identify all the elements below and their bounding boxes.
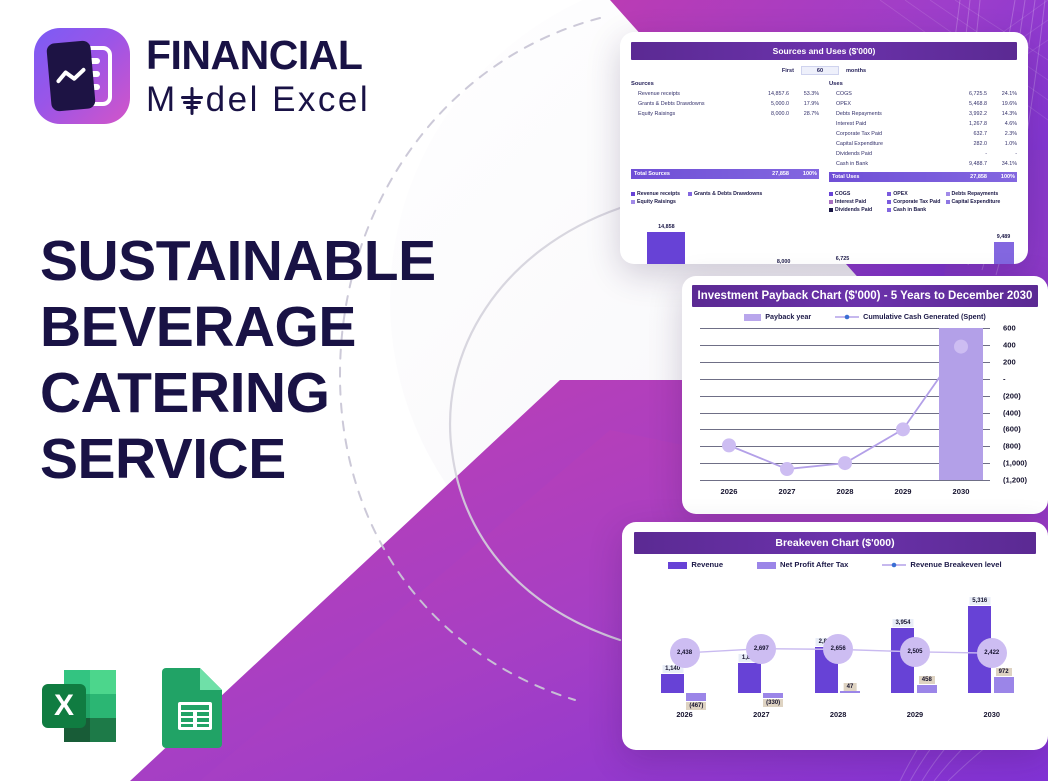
total-pct: 100% xyxy=(789,171,819,177)
table-row: Dividends Paid - - xyxy=(829,149,1017,159)
row-pct: - xyxy=(987,149,1017,159)
npat-bar xyxy=(994,677,1014,693)
total-pct: 100% xyxy=(987,174,1017,180)
legend-label: Interest Paid xyxy=(835,199,866,205)
legend-label: Cash in Bank xyxy=(893,207,926,213)
row-pct: 17.9% xyxy=(789,99,819,109)
legend-label: Grants & Debts Drawdowns xyxy=(694,191,762,197)
row-pct: 19.6% xyxy=(987,99,1017,109)
x-axis-tick-label: 2028 xyxy=(837,487,854,496)
legend-label: Dividends Paid xyxy=(835,207,872,213)
x-axis-tick-label: 2030 xyxy=(984,710,1000,719)
legend-label: COGS xyxy=(835,191,850,197)
row-value: 3,992.2 xyxy=(945,109,987,119)
bar-value-label: 8,000 xyxy=(759,259,809,264)
payback-legend: Payback year Cumulative Cash Generated (… xyxy=(692,312,1038,321)
revenue-value-label: 3,954 xyxy=(892,619,913,627)
legend-label: Corporate Tax Paid xyxy=(893,199,940,205)
legend-cumulative-cash: Cumulative Cash Generated (Spent) xyxy=(835,312,986,321)
legend-swatch xyxy=(887,208,891,212)
table-row: Capital Expenditure 282.0 1.0% xyxy=(829,139,1017,149)
row-label: COGS xyxy=(829,89,945,99)
google-sheets-icon xyxy=(154,662,234,750)
table-row: OPEX 5,468.8 19.6% xyxy=(829,99,1017,109)
row-value: 1,267.8 xyxy=(945,119,987,129)
legend-npat: Net Profit After Tax xyxy=(757,560,848,569)
row-label: Interest Paid xyxy=(829,119,945,129)
uses-header: Uses xyxy=(829,81,1017,87)
doc-front-shape xyxy=(46,40,96,112)
left-content-panel: FINANCIAL M del Excel SUSTAINABLE BEVERA… xyxy=(0,0,520,781)
revenue-bar xyxy=(661,674,684,693)
table-row: Equity Raisings 8,000.0 28.7% xyxy=(631,109,819,119)
npat-value-label: 972 xyxy=(996,668,1012,676)
headline-line-3: CATERING xyxy=(40,360,500,426)
uses-bar-chart: 6,7255,4693,9921,26863328209,489 xyxy=(829,219,1017,264)
legend-item: Grants & Debts Drawdowns xyxy=(688,191,762,197)
breakeven-value-bubble: 2,656 xyxy=(823,634,853,664)
legend-band-swatch xyxy=(744,314,761,321)
npat-value-label: 47 xyxy=(844,683,857,691)
npat-value-label: (467) xyxy=(686,702,706,710)
row-label: Revenue receipts xyxy=(631,89,747,99)
legend-swatch xyxy=(631,200,635,204)
headline-line-2: BEVERAGE xyxy=(40,294,500,360)
legend-swatch xyxy=(887,192,891,196)
legend-breakeven-level: Revenue Breakeven level xyxy=(882,560,1001,569)
legend-revenue: Revenue xyxy=(668,560,723,569)
legend-swatch xyxy=(688,192,692,196)
legend-item: Equity Raisings xyxy=(631,199,676,205)
breakeven-value-bubble: 2,438 xyxy=(670,638,700,668)
table-row: Interest Paid 1,267.8 4.6% xyxy=(829,119,1017,129)
legend-swatch xyxy=(829,200,833,204)
sources-column: Sources Revenue receipts 14,857.6 53.3% … xyxy=(631,81,819,182)
legend-label: Equity Raisings xyxy=(637,199,676,205)
legend-label: Revenue receipts xyxy=(637,191,680,197)
gridline xyxy=(700,480,990,481)
payback-plot-area: 600400200-(200)(400)(600)(800)(1,000)(1,… xyxy=(692,328,1038,480)
cumulative-cash-line xyxy=(692,328,1038,480)
x-axis-tick-label: 2027 xyxy=(753,710,769,719)
total-value: 27,858 xyxy=(945,174,987,180)
row-pct: 24.1% xyxy=(987,89,1017,99)
legend-swatch xyxy=(887,200,891,204)
npat-bar xyxy=(686,693,706,701)
x-axis-tick-label: 2030 xyxy=(953,487,970,496)
row-label: Equity Raisings xyxy=(631,109,747,119)
stacked-bars-glyph-icon xyxy=(179,88,205,114)
legend-npat-swatch xyxy=(757,562,776,569)
breakeven-value-bubble: 2,505 xyxy=(900,637,930,667)
row-pct: 1.0% xyxy=(987,139,1017,149)
legend-item: Corporate Tax Paid xyxy=(887,199,945,205)
headline-line-4: SERVICE xyxy=(40,426,500,492)
months-control-row: First 60 months xyxy=(631,66,1017,75)
npat-value-label: 458 xyxy=(919,676,935,684)
row-value: 632.7 xyxy=(945,129,987,139)
brand-logo: FINANCIAL M del Excel xyxy=(34,28,370,124)
npat-bar xyxy=(917,685,937,693)
row-label: Grants & Debts Drawdowns xyxy=(631,99,747,109)
sources-and-uses-card[interactable]: Sources and Uses ($'000) First 60 months… xyxy=(620,32,1028,264)
supported-apps: X xyxy=(34,662,234,750)
revenue-bar xyxy=(738,663,761,693)
table-row: Debts Repayments 3,992.2 14.3% xyxy=(829,109,1017,119)
legend-item: Debts Repayments xyxy=(946,191,1004,197)
payback-title: Investment Payback Chart ($'000) - 5 Yea… xyxy=(692,285,1038,307)
bar-value-label: 9,489 xyxy=(988,234,1020,240)
legend-swatch xyxy=(829,208,833,212)
row-value: 8,000.0 xyxy=(747,109,789,119)
brand-subtitle: M del Excel xyxy=(146,82,370,117)
breakeven-title: Breakeven Chart ($'000) xyxy=(634,532,1036,554)
row-value: 9,488.7 xyxy=(945,159,987,169)
breakeven-value-bubble: 2,422 xyxy=(977,638,1007,668)
months-label: months xyxy=(846,68,866,74)
npat-bar xyxy=(840,691,860,693)
legend-label: Capital Expenditure xyxy=(952,199,1001,205)
x-axis-tick-label: 2027 xyxy=(779,487,796,496)
total-label: Total Sources xyxy=(631,171,747,177)
legend-payback-year: Payback year xyxy=(744,312,811,321)
bar xyxy=(647,232,685,264)
row-value: 6,725.5 xyxy=(945,89,987,99)
months-input[interactable]: 60 xyxy=(801,66,839,75)
page-title: SUSTAINABLE BEVERAGE CATERING SERVICE xyxy=(40,228,500,492)
legend-item: COGS xyxy=(829,191,887,197)
total-uses-row: Total Uses 27,858 100% xyxy=(829,172,1017,182)
row-label: Dividends Paid xyxy=(829,149,945,159)
table-row: Cash in Bank 9,488.7 34.1% xyxy=(829,159,1017,169)
bar xyxy=(994,242,1014,264)
row-pct: 14.3% xyxy=(987,109,1017,119)
row-pct: 53.3% xyxy=(789,89,819,99)
legend-item: Cash in Bank xyxy=(887,207,945,213)
row-pct: 34.1% xyxy=(987,159,1017,169)
uses-column: Uses COGS 6,725.5 24.1% OPEX 5,468.8 19.… xyxy=(829,81,1017,182)
row-pct: 4.6% xyxy=(987,119,1017,129)
table-row: Revenue receipts 14,857.6 53.3% xyxy=(631,89,819,99)
breakeven-value-bubble: 2,697 xyxy=(746,634,776,664)
x-axis-tick-label: 2026 xyxy=(721,487,738,496)
legend-swatch xyxy=(946,192,950,196)
investment-payback-card[interactable]: Investment Payback Chart ($'000) - 5 Yea… xyxy=(682,276,1048,514)
legend-revenue-swatch xyxy=(668,562,687,569)
legend-line-swatch xyxy=(835,313,859,321)
brand-subtitle-post: del Excel xyxy=(206,82,371,117)
row-value: 14,857.6 xyxy=(747,89,789,99)
uses-chart-legend: COGSOPEXDebts RepaymentsInterest PaidCor… xyxy=(829,191,1017,215)
sources-header: Sources xyxy=(631,81,819,87)
breakeven-plot-area: 1,1401,8482,8143,9545,316(467)(330)47458… xyxy=(634,575,1036,717)
legend-swatch xyxy=(829,192,833,196)
total-sources-row: Total Sources 27,858 100% xyxy=(631,169,819,179)
sources-bar-chart: 14,8585,0008,000 xyxy=(631,211,819,264)
npat-bar xyxy=(763,693,783,698)
legend-label: Debts Repayments xyxy=(952,191,999,197)
bar-value-label: 14,858 xyxy=(641,224,691,230)
brand-subtitle-pre: M xyxy=(146,82,178,117)
revenue-value-label: 5,316 xyxy=(969,597,990,605)
legend-item: Interest Paid xyxy=(829,199,887,205)
total-value: 27,858 xyxy=(747,171,789,177)
x-axis-tick-label: 2026 xyxy=(676,710,692,719)
row-label: Cash in Bank xyxy=(829,159,945,169)
microsoft-excel-icon: X xyxy=(34,662,122,750)
first-label: First xyxy=(782,68,794,74)
x-axis-tick-label: 2029 xyxy=(895,487,912,496)
legend-breakeven-swatch xyxy=(882,561,906,569)
x-axis-tick-label: 2028 xyxy=(830,710,846,719)
row-label: Capital Expenditure xyxy=(829,139,945,149)
row-value: 282.0 xyxy=(945,139,987,149)
legend-swatch xyxy=(631,192,635,196)
row-label: Corporate Tax Paid xyxy=(829,129,945,139)
bar-value-label: 6,725 xyxy=(827,256,859,262)
npat-value-label: (330) xyxy=(763,699,783,707)
x-axis-tick-label: 2029 xyxy=(907,710,923,719)
legend-item: Capital Expenditure xyxy=(946,199,1004,205)
table-row: Grants & Debts Drawdowns 5,000.0 17.9% xyxy=(631,99,819,109)
row-value: 5,000.0 xyxy=(747,99,789,109)
row-value: - xyxy=(945,149,987,159)
sources-chart-legend: Revenue receiptsGrants & Debts Drawdowns… xyxy=(631,191,819,207)
sources-uses-title: Sources and Uses ($'000) xyxy=(631,42,1017,60)
row-label: OPEX xyxy=(829,99,945,109)
legend-swatch xyxy=(946,200,950,204)
breakeven-card[interactable]: Breakeven Chart ($'000) Revenue Net Prof… xyxy=(622,522,1048,750)
brand-title: FINANCIAL xyxy=(146,35,370,76)
headline-line-1: SUSTAINABLE xyxy=(40,228,500,294)
table-row: COGS 6,725.5 24.1% xyxy=(829,89,1017,99)
row-pct: 28.7% xyxy=(789,109,819,119)
total-label: Total Uses xyxy=(829,174,945,180)
financial-document-icon xyxy=(34,28,130,124)
row-pct: 2.3% xyxy=(987,129,1017,139)
legend-item: Dividends Paid xyxy=(829,207,887,213)
breakeven-legend: Revenue Net Profit After Tax Revenue Bre… xyxy=(634,560,1036,569)
legend-label: OPEX xyxy=(893,191,907,197)
svg-text:X: X xyxy=(54,689,74,722)
legend-item: OPEX xyxy=(887,191,945,197)
row-label: Debts Repayments xyxy=(829,109,945,119)
row-value: 5,468.8 xyxy=(945,99,987,109)
table-row: Corporate Tax Paid 632.7 2.3% xyxy=(829,129,1017,139)
legend-item: Revenue receipts xyxy=(631,191,680,197)
trend-wave-icon xyxy=(55,67,86,86)
